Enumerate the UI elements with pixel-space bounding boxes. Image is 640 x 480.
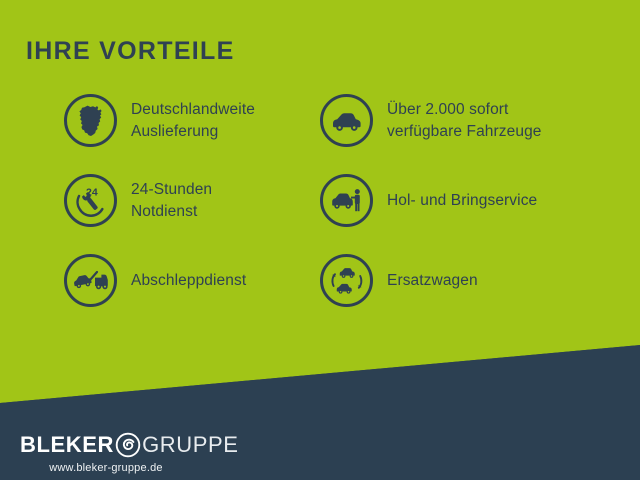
page-title: IHRE VORTEILE [26,39,235,64]
logo-url[interactable]: www.bleker-gruppe.de [20,462,192,474]
benefit-item-deutschlandweite-auslieferung[interactable]: Deutschlandweite Auslieferung [64,94,255,147]
logo-lockup: BLEKER GRUPPE [20,432,260,458]
germany-map-icon [64,94,117,147]
benefit-row: Abschleppdienst [0,254,640,334]
benefit-label: Abschleppdienst [131,270,246,292]
benefit-item-verfuegbare-fahrzeuge[interactable]: Über 2.000 sofort verfügbare Fahrzeuge [320,94,542,147]
benefit-label: Über 2.000 sofort verfügbare Fahrzeuge [387,99,542,143]
tow-truck-icon [64,254,117,307]
car-side-icon [320,94,373,147]
benefit-item-24-stunden-notdienst[interactable]: 24 24-Stunden Notdienst [64,174,212,227]
two-cars-exchange-icon [320,254,373,307]
benefit-label: Ersatzwagen [387,270,478,292]
benefit-item-abschleppdienst[interactable]: Abschleppdienst [64,254,246,307]
benefit-label: 24-Stunden Notdienst [131,179,212,223]
benefits-grid: Deutschlandweite Auslieferung Über 2.000… [0,94,640,334]
benefit-item-ersatzwagen[interactable]: Ersatzwagen [320,254,478,307]
logo-secondary-text: GRUPPE [142,434,239,456]
benefit-item-hol-und-bringservice[interactable]: Hol- und Bringservice [320,174,537,227]
footer-logo[interactable]: BLEKER GRUPPE www.bleker-gruppe.de [20,432,260,474]
clock-wrench-24-icon: 24 [64,174,117,227]
benefit-row: Deutschlandweite Auslieferung Über 2.000… [0,94,640,174]
benefit-label: Deutschlandweite Auslieferung [131,99,255,143]
slide-canvas: IHRE VORTEILE Deutschlandweite Ausliefer… [0,0,640,480]
logo-primary-text: BLEKER [20,434,114,456]
car-person-icon [320,174,373,227]
spiral-circle-icon [115,432,141,458]
benefit-row: 24 24-Stunden Notdienst [0,174,640,254]
benefit-label: Hol- und Bringservice [387,190,537,212]
